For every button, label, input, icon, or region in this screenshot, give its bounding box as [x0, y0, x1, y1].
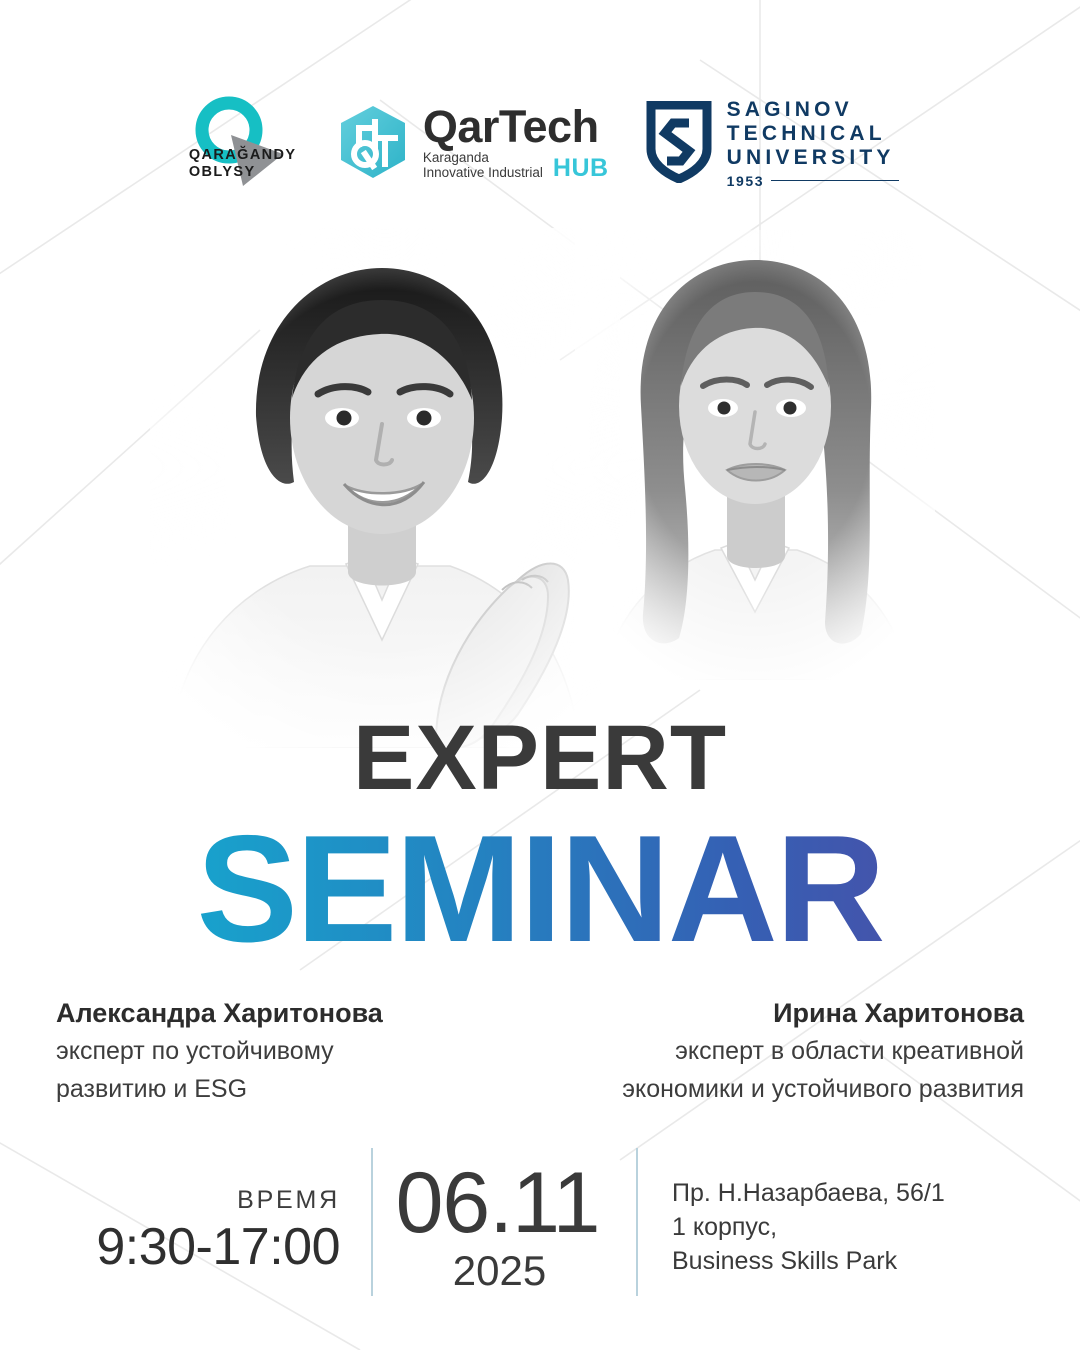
logo-saginov-line3: UNIVERSITY	[727, 146, 900, 170]
logo-saginov-year: 1953	[727, 173, 765, 189]
logo-qartech-sub-line1: Karaganda	[423, 150, 543, 166]
portrait-irina-kharitonova	[575, 230, 935, 680]
logo-qartech-word: QarTech	[423, 104, 609, 150]
logo-qartech-textblock: QarTech Karaganda Innovative Industrial …	[423, 104, 609, 181]
logo-saginov-year-row: 1953	[727, 173, 900, 189]
portrait-aleksandra-kharitonova	[150, 228, 620, 748]
address-line-1: Пр. Н.Назарбаева, 56/1	[672, 1176, 1072, 1210]
title-seminar: SEMINAR	[0, 814, 1080, 964]
logo-qartech-subrow: Karaganda Innovative Industrial HUB	[423, 150, 609, 181]
logo-qartech-hub: QarTech Karaganda Innovative Industrial …	[335, 96, 609, 188]
date-day: 06.11	[371, 1156, 636, 1250]
date-year: 2025	[371, 1248, 636, 1294]
speakers-section: Александра Харитонова эксперт по устойчи…	[0, 995, 1080, 1107]
address-block: Пр. Н.Назарбаева, 56/1 1 корпус, Busines…	[672, 1176, 1072, 1278]
logo-qartech-hub-word: HUB	[553, 156, 609, 181]
title-expert: EXPERT	[0, 710, 1080, 806]
speaker-block-right: Ирина Харитонова эксперт в области креат…	[540, 995, 1080, 1107]
address-line-3: Business Skills Park	[672, 1244, 1072, 1278]
logo-qaragandy-line2: OBLYSY	[189, 164, 297, 181]
event-poster: QARAĞANDY OBLYSY QarTech	[0, 0, 1080, 1350]
speaker-name-right: Ирина Харитонова	[540, 995, 1024, 1031]
logo-row: QARAĞANDY OBLYSY QarTech	[0, 92, 1080, 192]
speaker-portraits	[0, 200, 1080, 760]
headline: EXPERT SEMINAR	[0, 710, 1080, 964]
logo-saginov-rule	[771, 180, 899, 182]
speaker-role-left-line1: эксперт по устойчивому	[56, 1034, 540, 1069]
event-info-bar: ВРЕМЯ 9:30-17:00 06.11 2025 Пр. Н.Назарб…	[0, 1148, 1080, 1298]
address-line-2: 1 корпус,	[672, 1210, 1072, 1244]
logo-qartech-sub-line2: Innovative Industrial	[423, 165, 543, 181]
logo-qaragandy-line1: QARAĞANDY	[189, 147, 297, 164]
speaker-block-left: Александра Харитонова эксперт по устойчи…	[0, 995, 540, 1107]
logo-saginov-line2: TECHNICAL	[727, 122, 900, 146]
logo-saginov-technical-university: SAGINOV TECHNICAL UNIVERSITY 1953	[645, 96, 900, 188]
info-divider-2	[636, 1148, 638, 1296]
speaker-role-right-line2: экономики и устойчивого развития	[540, 1072, 1024, 1107]
logo-saginov-line1: SAGINOV	[727, 98, 900, 122]
date-block: 06.11 2025	[371, 1156, 636, 1294]
time-block: ВРЕМЯ 9:30-17:00	[0, 1186, 340, 1278]
speaker-role-right-line1: эксперт в области креативной	[540, 1034, 1024, 1069]
speaker-role-left-line2: развитию и ESG	[56, 1072, 540, 1107]
time-value: 9:30-17:00	[0, 1216, 340, 1278]
logo-qartech-sub: Karaganda Innovative Industrial	[423, 150, 543, 181]
logo-qaragandy-text: QARAĞANDY OBLYSY	[189, 147, 297, 181]
speaker-name-left: Александра Харитонова	[56, 995, 540, 1031]
qt-cube-icon	[335, 102, 411, 182]
time-label: ВРЕМЯ	[0, 1186, 340, 1214]
logo-qaragandy-oblysy: QARAĞANDY OBLYSY	[181, 92, 299, 192]
shield-s-monogram-icon	[645, 101, 713, 183]
logo-saginov-textblock: SAGINOV TECHNICAL UNIVERSITY 1953	[727, 96, 900, 189]
